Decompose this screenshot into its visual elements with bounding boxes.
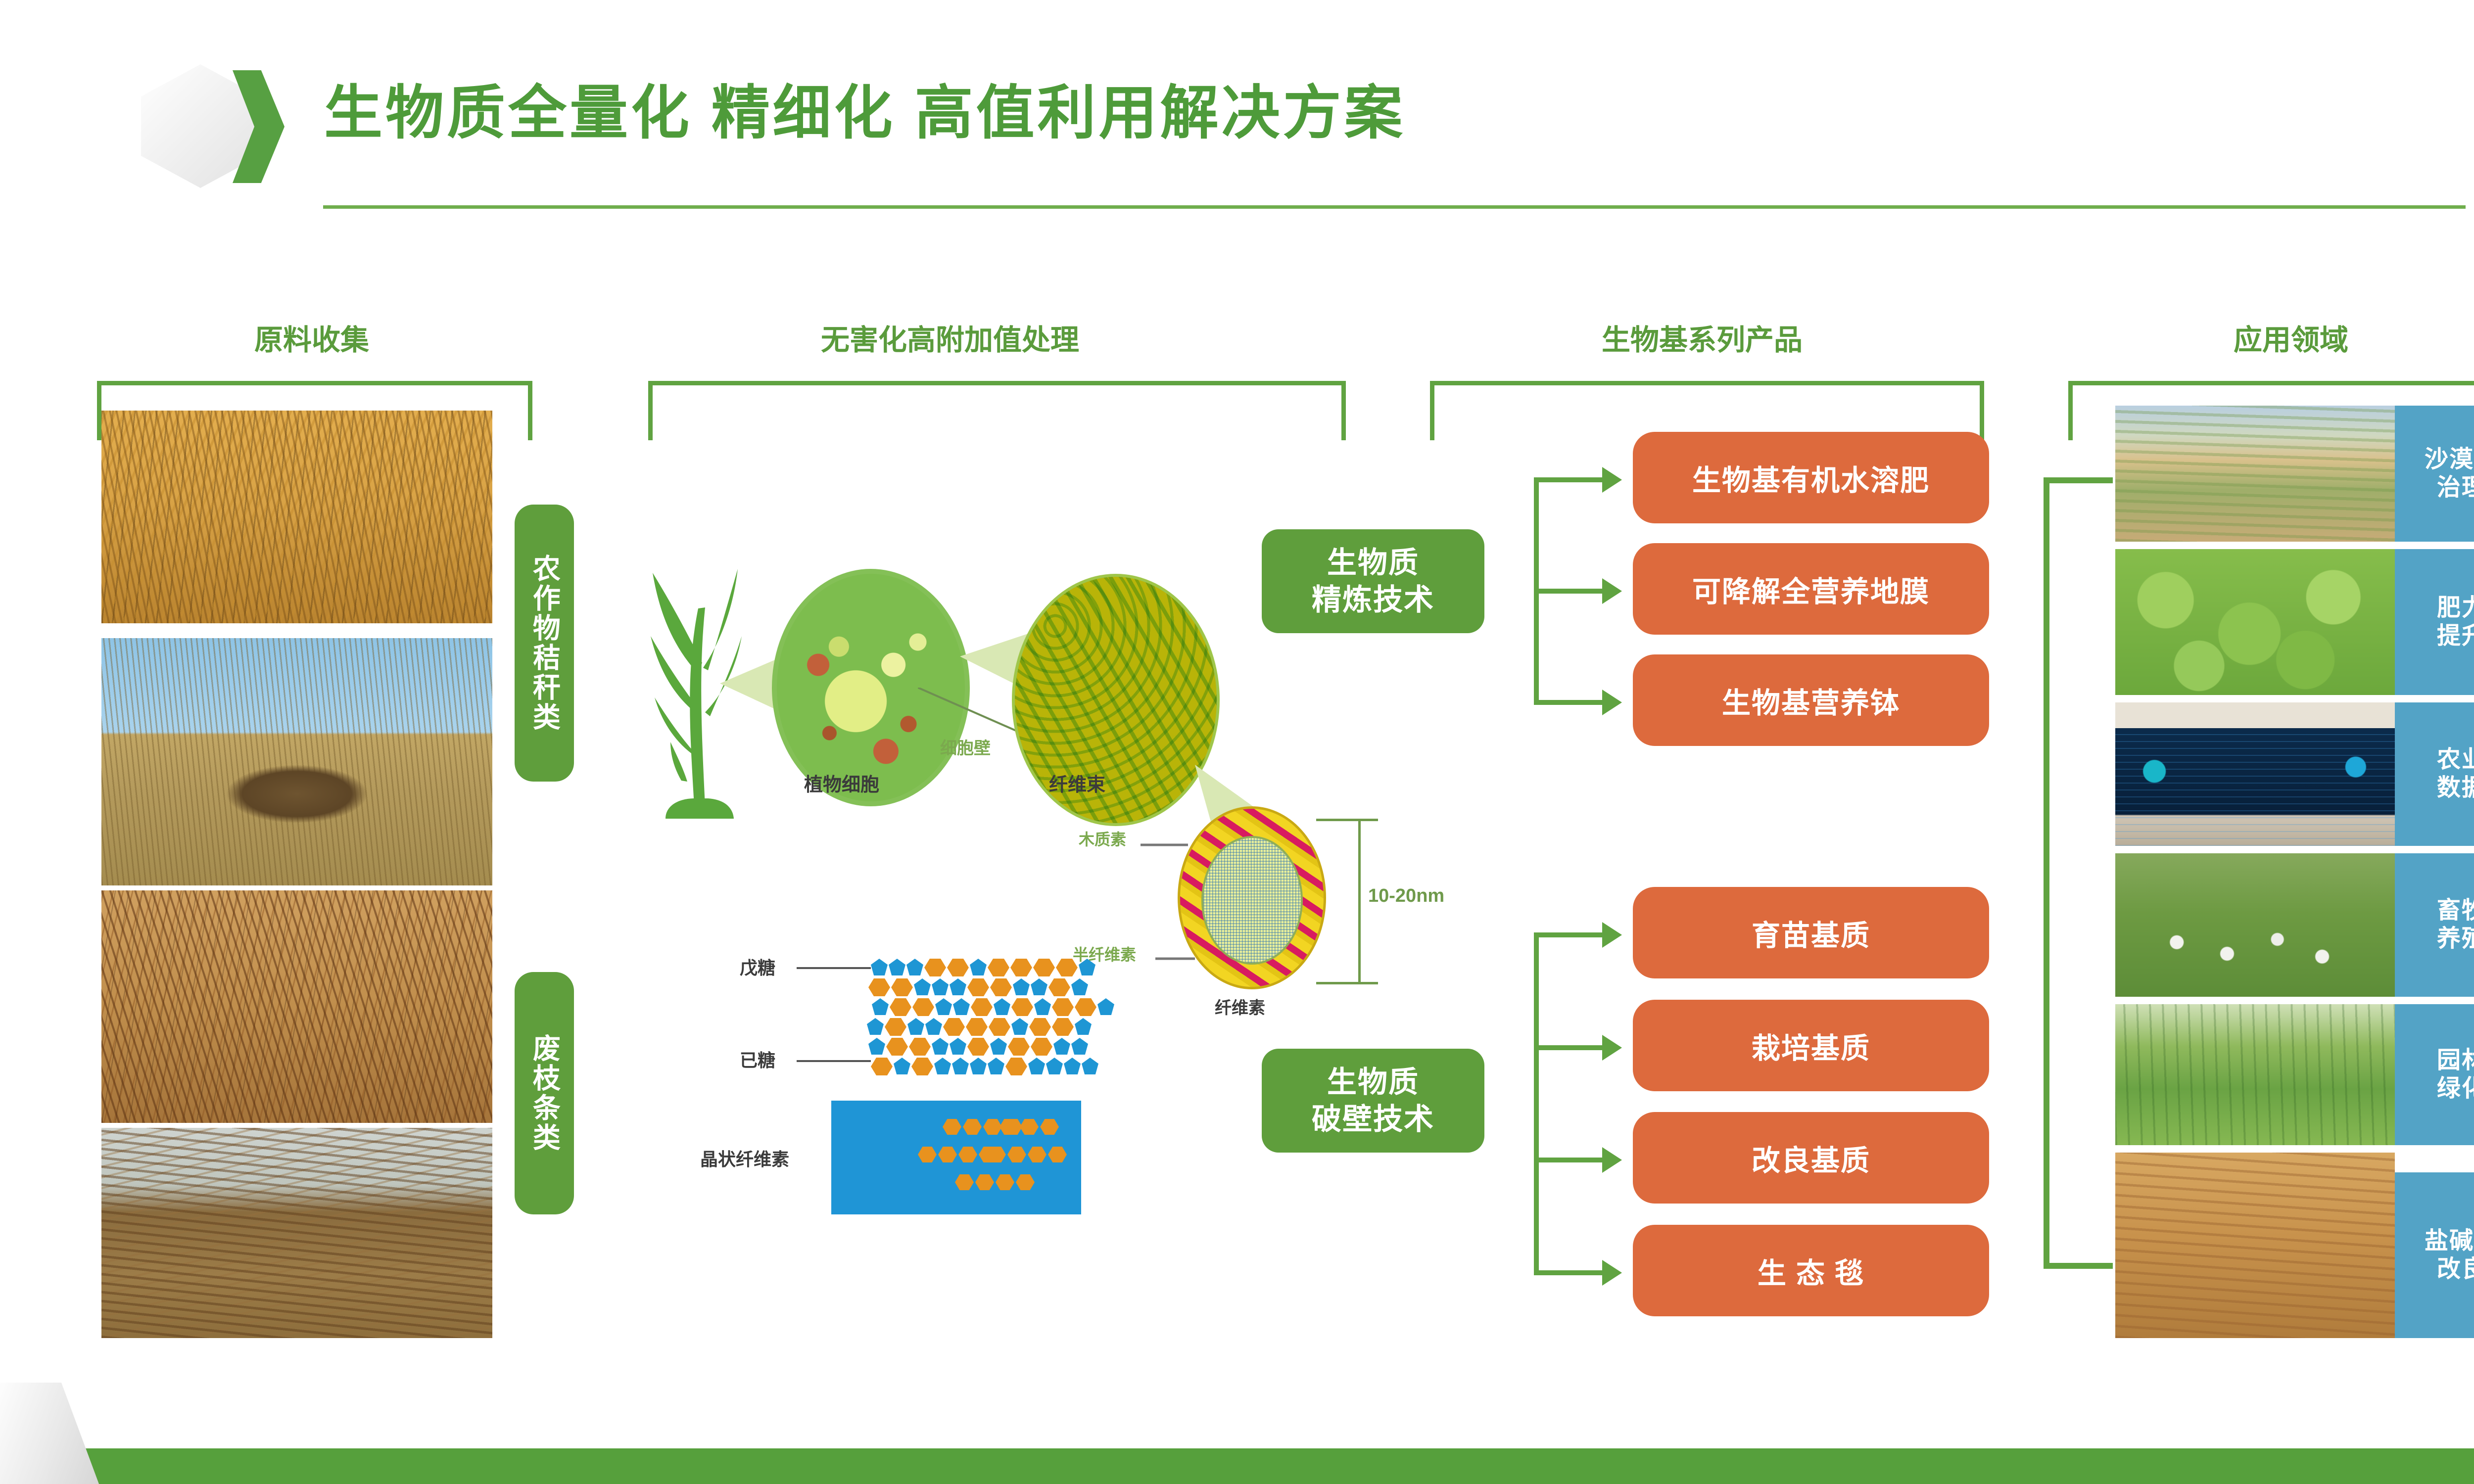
arrow-cellbreak-4 xyxy=(1602,1260,1622,1286)
hexose-unit xyxy=(912,998,934,1016)
pentose-unit xyxy=(950,978,966,995)
connector-spine-applications xyxy=(2044,477,2049,1269)
hexose-unit xyxy=(990,978,1012,996)
section-header-applications: 应用领域 xyxy=(2108,317,2474,358)
app-label-saline-land: 盐碱地 改良 xyxy=(2395,1172,2474,1338)
sugar-chain-row xyxy=(867,1018,1092,1036)
hexose-unit xyxy=(1033,959,1055,976)
pentose-unit xyxy=(970,959,987,975)
hexose-unit xyxy=(1008,1038,1030,1056)
product-box-biodegradable-mulch-film[interactable]: 可降解全营养地膜 xyxy=(1633,543,1989,635)
pentose-unit xyxy=(1031,978,1047,995)
photo-vineyard-pruning xyxy=(101,1128,492,1338)
pentose-unit xyxy=(906,959,923,975)
tech-label-line1: 生物质 xyxy=(1327,1064,1419,1101)
app-label-agriculture-data: 农业 数据 xyxy=(2395,702,2474,846)
pentose-unit xyxy=(953,998,970,1015)
lignin-leader-line xyxy=(1141,841,1190,849)
hexose-unit xyxy=(1052,1018,1074,1036)
crystalline-row xyxy=(999,1119,1059,1135)
glucose-unit xyxy=(999,1119,1018,1135)
connector-arm-cellbreak-2 xyxy=(1534,1045,1603,1050)
glucose-unit xyxy=(955,1174,974,1190)
app-label-soil-fertility: 肥力 提升 xyxy=(2395,549,2474,695)
pentose-unit xyxy=(1053,1038,1070,1055)
crystalline-row xyxy=(918,1147,998,1162)
cellulose-core xyxy=(1201,836,1303,965)
glucose-unit xyxy=(987,1147,1006,1162)
product-box-seedling-substrate[interactable]: 育苗基质 xyxy=(1633,887,1989,978)
hexose-unit xyxy=(885,1018,906,1036)
pentose-unit xyxy=(914,978,931,995)
bracket-products xyxy=(1430,381,1984,440)
sugar-chain-row xyxy=(868,978,1088,996)
sugar-chain-row xyxy=(868,1038,1088,1056)
connector-arm-applications-bottom xyxy=(2044,1263,2113,1269)
label-cellulose: 纤维素 xyxy=(1215,994,1265,1019)
hexose-unit xyxy=(1029,1018,1051,1036)
page-title: 生物质全量化 精细化 高值利用解决方案 xyxy=(324,82,1406,146)
product-box-water-soluble-fertilizer[interactable]: 生物基有机水溶肥 xyxy=(1633,432,1989,523)
pentose-unit xyxy=(907,1018,924,1035)
app-label-line2: 治理 xyxy=(2437,474,2474,501)
arrow-cellbreak-2 xyxy=(1602,1035,1622,1061)
label-lignin: 木质素 xyxy=(1079,827,1126,850)
photo-desert-control xyxy=(2115,406,2395,542)
pentose-unit xyxy=(872,998,889,1015)
tech-label-line2: 精炼技术 xyxy=(1312,581,1434,618)
app-label-line1: 畜牧 xyxy=(2437,897,2474,924)
connector-arm-refining-2 xyxy=(1534,589,1603,594)
connector-arm-cellbreak-1 xyxy=(1534,932,1603,937)
app-label-desert-control: 沙漠化 治理 xyxy=(2395,406,2474,542)
product-box-nutrient-pot[interactable]: 生物基营养钵 xyxy=(1633,654,1989,746)
app-label-line1: 园林 xyxy=(2437,1047,2474,1073)
label-plant-cell: 植物细胞 xyxy=(804,769,879,796)
app-label-line2: 数据 xyxy=(2437,775,2474,801)
app-label-line1: 盐碱地 xyxy=(2425,1228,2474,1254)
dimension-tick-bottom xyxy=(1316,982,1378,984)
photo-landscape-greening xyxy=(2115,1004,2395,1145)
glucose-unit xyxy=(958,1147,977,1162)
hexose-unit xyxy=(886,1038,908,1056)
pentose-unit xyxy=(889,959,905,975)
footer-bar xyxy=(0,1448,2474,1484)
feedstock-category-crop-straw: 农作物秸秆类 xyxy=(515,505,574,782)
hemicellulose-leader-line xyxy=(1155,955,1197,963)
glucose-unit xyxy=(975,1174,994,1190)
section-header-processing: 无害化高附加值处理 xyxy=(683,317,1217,358)
pentose-unit xyxy=(1046,1058,1063,1074)
pentose-unit xyxy=(894,1058,910,1074)
sugar-chain-row xyxy=(872,998,1114,1016)
connector-arm-applications-top xyxy=(2044,477,2113,483)
hexose-unit xyxy=(988,959,1009,976)
hexose-unit xyxy=(947,959,969,976)
section-header-products: 生物基系列产品 xyxy=(1435,317,1969,358)
app-label-line2: 绿化 xyxy=(2437,1075,2474,1102)
hexose-unit xyxy=(911,1058,933,1075)
photo-cabbage-field xyxy=(2115,549,2395,695)
hexose-unit xyxy=(1031,1038,1052,1056)
hexose-unit xyxy=(1075,998,1096,1016)
pentose-unit xyxy=(1034,998,1051,1015)
app-label-line1: 肥力 xyxy=(2437,595,2474,621)
connector-arm-cellbreak-4 xyxy=(1534,1270,1603,1275)
photo-corn-stalk-field xyxy=(101,411,492,623)
hexose-unit xyxy=(909,1038,931,1056)
pentose-unit xyxy=(970,1058,987,1074)
tech-label-line2: 破壁技术 xyxy=(1312,1101,1434,1138)
hexose-unit xyxy=(1056,959,1078,976)
photo-data-control-room xyxy=(2115,702,2395,846)
sugar-chain-row xyxy=(871,959,1095,976)
pentose-unit xyxy=(1079,959,1095,975)
sugar-chain-row xyxy=(871,1058,1098,1075)
pentose-leader-line xyxy=(797,967,871,969)
pentose-unit xyxy=(1071,978,1088,995)
hexose-unit xyxy=(924,959,946,976)
pentose-unit xyxy=(934,1058,951,1074)
dimension-tick-top xyxy=(1316,819,1378,821)
connector-arm-refining-1 xyxy=(1534,477,1603,482)
connector-arm-refining-3 xyxy=(1534,700,1603,705)
hexose-unit xyxy=(891,978,913,996)
label-pentose: 戊糖 xyxy=(740,954,775,979)
pentose-unit xyxy=(1075,1018,1092,1035)
glucose-unit xyxy=(938,1147,957,1162)
label-cell-wall: 细胞壁 xyxy=(940,735,991,759)
connector-spine-cellbreak xyxy=(1534,932,1539,1274)
hexose-unit xyxy=(868,978,890,996)
photo-straw-bale-field xyxy=(101,638,492,885)
pentose-unit xyxy=(925,1018,942,1035)
footer-wedge-decoration xyxy=(0,1383,99,1484)
app-label-line2: 改良 xyxy=(2437,1256,2474,1282)
pentose-unit xyxy=(1028,1058,1045,1074)
hexose-unit xyxy=(890,998,911,1016)
hexose-unit xyxy=(871,1058,893,1075)
hexose-unit xyxy=(989,1018,1010,1036)
tech-box-biomass-refining[interactable]: 生物质 精炼技术 xyxy=(1262,529,1484,633)
photo-saline-land xyxy=(2115,1153,2395,1338)
pentose-unit xyxy=(1082,1058,1098,1074)
arrow-refining-3 xyxy=(1602,690,1622,715)
product-box-improvement-substrate[interactable]: 改良基质 xyxy=(1633,1112,1989,1204)
hexose-unit xyxy=(1048,978,1070,996)
pentose-unit xyxy=(935,998,952,1015)
app-label-line2: 提升 xyxy=(2437,623,2474,649)
hexose-unit xyxy=(1010,959,1032,976)
crystalline-row xyxy=(955,1174,1035,1190)
pentose-unit xyxy=(871,959,888,975)
photo-sheep-grassland xyxy=(2115,853,2395,997)
glucose-unit xyxy=(1028,1147,1047,1162)
arrow-refining-1 xyxy=(1602,467,1622,493)
pentose-unit xyxy=(952,1058,969,1074)
pentose-unit xyxy=(932,1038,949,1055)
pentose-unit xyxy=(1013,978,1030,995)
arrow-cellbreak-3 xyxy=(1602,1147,1622,1173)
hexose-unit xyxy=(943,1018,965,1036)
pentose-unit xyxy=(994,998,1010,1015)
glucose-unit xyxy=(1016,1174,1035,1190)
dimension-line-vertical xyxy=(1358,819,1361,984)
hexose-unit xyxy=(971,998,993,1016)
app-label-line1: 沙漠化 xyxy=(2425,446,2474,472)
glucose-unit xyxy=(1007,1147,1026,1162)
label-fiber-bundle: 纤维束 xyxy=(1049,769,1105,796)
label-dimension-10-20nm: 10-20nm xyxy=(1368,885,1444,907)
hexose-unit xyxy=(1005,1058,1027,1075)
arrow-cellbreak-1 xyxy=(1602,922,1622,948)
glucose-unit xyxy=(1040,1119,1059,1135)
feedstock-category-waste-branch: 废枝条类 xyxy=(515,972,574,1214)
pentose-unit xyxy=(868,1038,885,1055)
connector-arm-cellbreak-3 xyxy=(1534,1158,1603,1162)
pentose-unit xyxy=(990,1038,1007,1055)
pentose-unit xyxy=(1011,1018,1028,1035)
title-divider xyxy=(323,205,2466,209)
hexose-unit xyxy=(1011,998,1033,1016)
app-label-line1: 农业 xyxy=(2437,746,2474,773)
label-crystalline-cellulose: 晶状纤维素 xyxy=(700,1145,789,1171)
product-box-ecological-blanket[interactable]: 生 态 毯 xyxy=(1633,1225,1989,1316)
glucose-unit xyxy=(963,1119,982,1135)
app-label-line2: 养殖 xyxy=(2437,926,2474,952)
pentose-unit xyxy=(1097,998,1114,1015)
app-label-livestock: 畜牧 养殖 xyxy=(2395,853,2474,997)
tech-label-line1: 生物质 xyxy=(1327,544,1419,581)
hexose-unit xyxy=(1052,998,1074,1016)
app-label-landscape-greening: 园林 绿化 xyxy=(2395,1004,2474,1145)
fiber-bundle-illustration xyxy=(1012,574,1220,826)
title-bar: 生物质全量化 精细化 高值利用解决方案 xyxy=(0,0,2474,232)
bracket-processing xyxy=(648,381,1346,440)
crystalline-row xyxy=(987,1147,1067,1162)
glucose-unit xyxy=(943,1119,961,1135)
pentose-unit xyxy=(932,978,949,995)
hexose-unit xyxy=(967,978,989,996)
pentose-unit xyxy=(988,1058,1004,1074)
photo-dry-branches xyxy=(101,890,492,1123)
tech-box-cell-wall-breaking[interactable]: 生物质 破壁技术 xyxy=(1262,1049,1484,1153)
pentose-unit xyxy=(1064,1058,1081,1074)
glucose-unit xyxy=(996,1174,1014,1190)
glucose-unit xyxy=(918,1147,937,1162)
pentose-unit xyxy=(950,1038,966,1055)
hexose-unit xyxy=(967,1038,989,1056)
hexose-leader-line xyxy=(797,1060,871,1062)
arrow-refining-2 xyxy=(1602,578,1622,604)
label-hexose: 已糖 xyxy=(740,1046,775,1072)
glucose-unit xyxy=(1048,1147,1067,1162)
section-header-feedstock: 原料收集 xyxy=(173,317,450,358)
pentose-unit xyxy=(1071,1038,1088,1055)
product-box-cultivation-substrate[interactable]: 栽培基质 xyxy=(1633,1000,1989,1091)
pentose-unit xyxy=(867,1018,884,1035)
hexose-unit xyxy=(966,1018,988,1036)
glucose-unit xyxy=(1020,1119,1039,1135)
